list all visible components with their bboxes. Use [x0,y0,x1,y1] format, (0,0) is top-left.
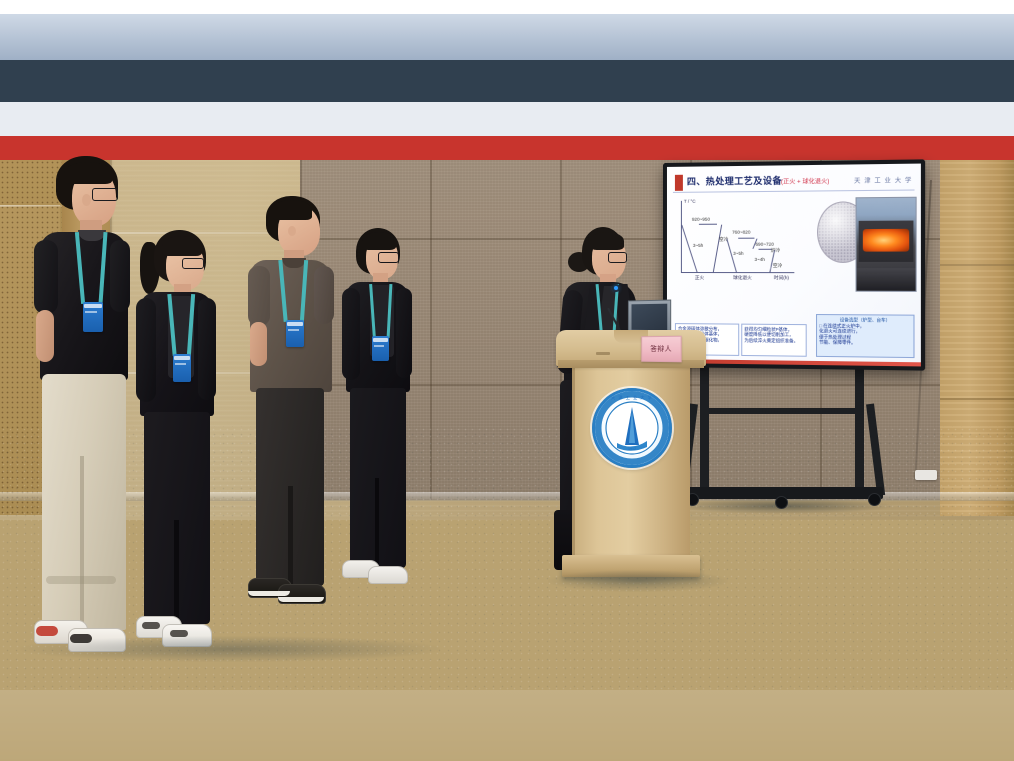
student-1-arm-right [110,240,130,312]
student-2-hair-fringe [162,236,202,256]
emblem-graphic [595,391,669,465]
student-3-ear [288,226,296,236]
student-4-id-badge [372,336,389,361]
badge-highlight [373,338,388,342]
student-1 [34,156,164,701]
student-4-leg-gap [375,478,379,566]
lectern-body-edge [572,368,575,558]
student-3-arm-right [314,266,334,324]
student-1-ear [82,194,91,206]
lectern-latch [596,352,610,355]
monitor-screen [632,304,668,331]
presenter-name-card-text: 答辩人 [650,344,672,354]
student-2-id-badge [173,354,191,382]
badge-line [374,345,384,347]
badge-highlight [287,322,303,326]
tv-stand-caster [868,493,881,506]
lectern: 天 津 工 业 大 学 1912 答辩人 [556,330,706,588]
lectern-lip [558,360,704,368]
floor-power-outlet [915,470,937,480]
university-emblem: 天 津 工 业 大 学 1912 [592,388,672,468]
student-2-leg-gap [174,520,179,624]
tv-stand-post [855,366,864,488]
student-1-id-badge [83,302,103,332]
student-1-trousers [42,374,126,630]
lecture-hall-photo: 四、热处理工艺及设备 (正火 + 球化退火) 天 津 工 业 大 学 T / °… [0,0,1014,761]
podium-floor-shadow [548,570,728,592]
presenter-name-card: 答辩人 [641,336,681,363]
student-1-hair-fringe [64,162,112,184]
student-4-shoe-right [368,566,408,584]
wall-seam [940,264,1014,266]
badge-highlight [84,304,102,308]
emblem-name-text: 天 津 工 业 大 学 [595,395,669,401]
student-1-trouser-crease [80,456,84,626]
student-3-hair-fringe [272,200,312,220]
student-1-trouser-fold [46,576,116,584]
student-3-id-badge [286,320,304,347]
wall-poster [0,0,20,162]
student-1-shoe-accent-left [36,626,58,636]
badge-line [175,363,186,365]
wall-seam [940,398,1014,400]
presenter-glasses [608,252,627,263]
tv-stand-caster [775,496,788,509]
presenter-hair-fringe [590,232,624,250]
badge-line [85,311,97,313]
student-1-forearm-left [36,310,54,362]
student-1-arm-left [34,240,58,314]
student-2-glasses [182,258,204,269]
tv-stand-crossbar [700,408,864,414]
student-3 [248,196,368,616]
student-1-glasses [92,188,118,201]
badge-line [288,329,299,331]
student-2-arm-right [198,298,216,400]
badge-highlight [174,356,190,360]
microphone-led-indicator [614,286,618,290]
people-floor-shadow [20,636,440,662]
student-3-leg-gap [288,486,293,586]
student-3-shoe-sole-right [278,597,324,602]
emblem-year-text: 1912 [595,447,669,451]
student-4-glasses [378,252,399,263]
student-4-arm-right [396,288,412,378]
